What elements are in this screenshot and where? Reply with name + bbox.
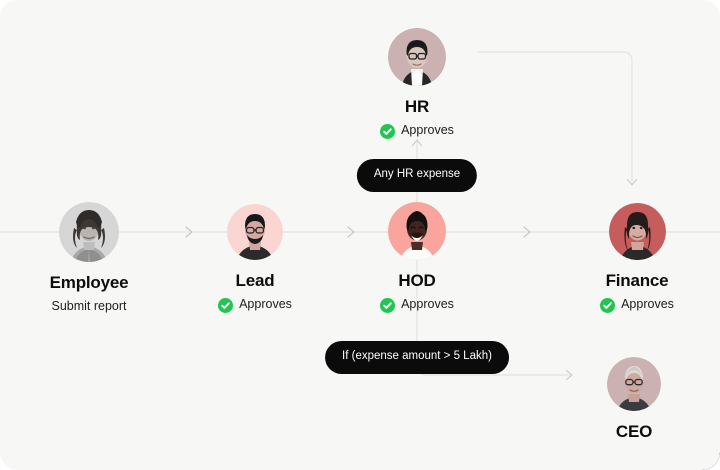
node-ceo[interactable]: CEO xyxy=(554,357,714,442)
node-employee[interactable]: Employee Submit report xyxy=(9,202,169,313)
node-hr[interactable]: HR Approves xyxy=(337,28,497,139)
status-text: Approves xyxy=(239,298,292,312)
check-circle-icon xyxy=(218,298,233,313)
avatar-ceo xyxy=(607,357,661,411)
status-badge: Approves xyxy=(218,298,292,313)
status-text: Approves xyxy=(621,298,674,312)
check-circle-icon xyxy=(600,298,615,313)
avatar-finance xyxy=(609,203,666,260)
workflow-canvas: Any HR expense If (expense amount > 5 La… xyxy=(0,0,720,470)
status-text: Approves xyxy=(401,298,454,312)
node-finance[interactable]: Finance Approves xyxy=(557,203,717,313)
condition-pill-hr[interactable]: Any HR expense xyxy=(357,159,477,192)
condition-pill-ceo[interactable]: If (expense amount > 5 Lakh) xyxy=(325,341,509,374)
avatar-hod xyxy=(388,202,446,260)
node-title: HR xyxy=(405,98,429,117)
node-title: HOD xyxy=(398,272,435,291)
check-circle-icon xyxy=(380,124,395,139)
node-title: Employee xyxy=(50,274,129,293)
avatar-hr xyxy=(388,28,446,86)
node-title: Lead xyxy=(236,272,275,291)
node-title: CEO xyxy=(616,423,652,442)
node-title: Finance xyxy=(606,272,669,291)
status-badge: Approves xyxy=(380,124,454,139)
node-lead[interactable]: Lead Approves xyxy=(175,204,335,313)
node-hod[interactable]: HOD Approves xyxy=(337,202,497,313)
status-badge: Approves xyxy=(380,298,454,313)
check-circle-icon xyxy=(380,298,395,313)
status-text: Approves xyxy=(401,124,454,138)
avatar-lead xyxy=(227,204,283,260)
status-badge: Approves xyxy=(600,298,674,313)
avatar-employee xyxy=(59,202,119,262)
node-subtitle: Submit report xyxy=(51,300,126,314)
